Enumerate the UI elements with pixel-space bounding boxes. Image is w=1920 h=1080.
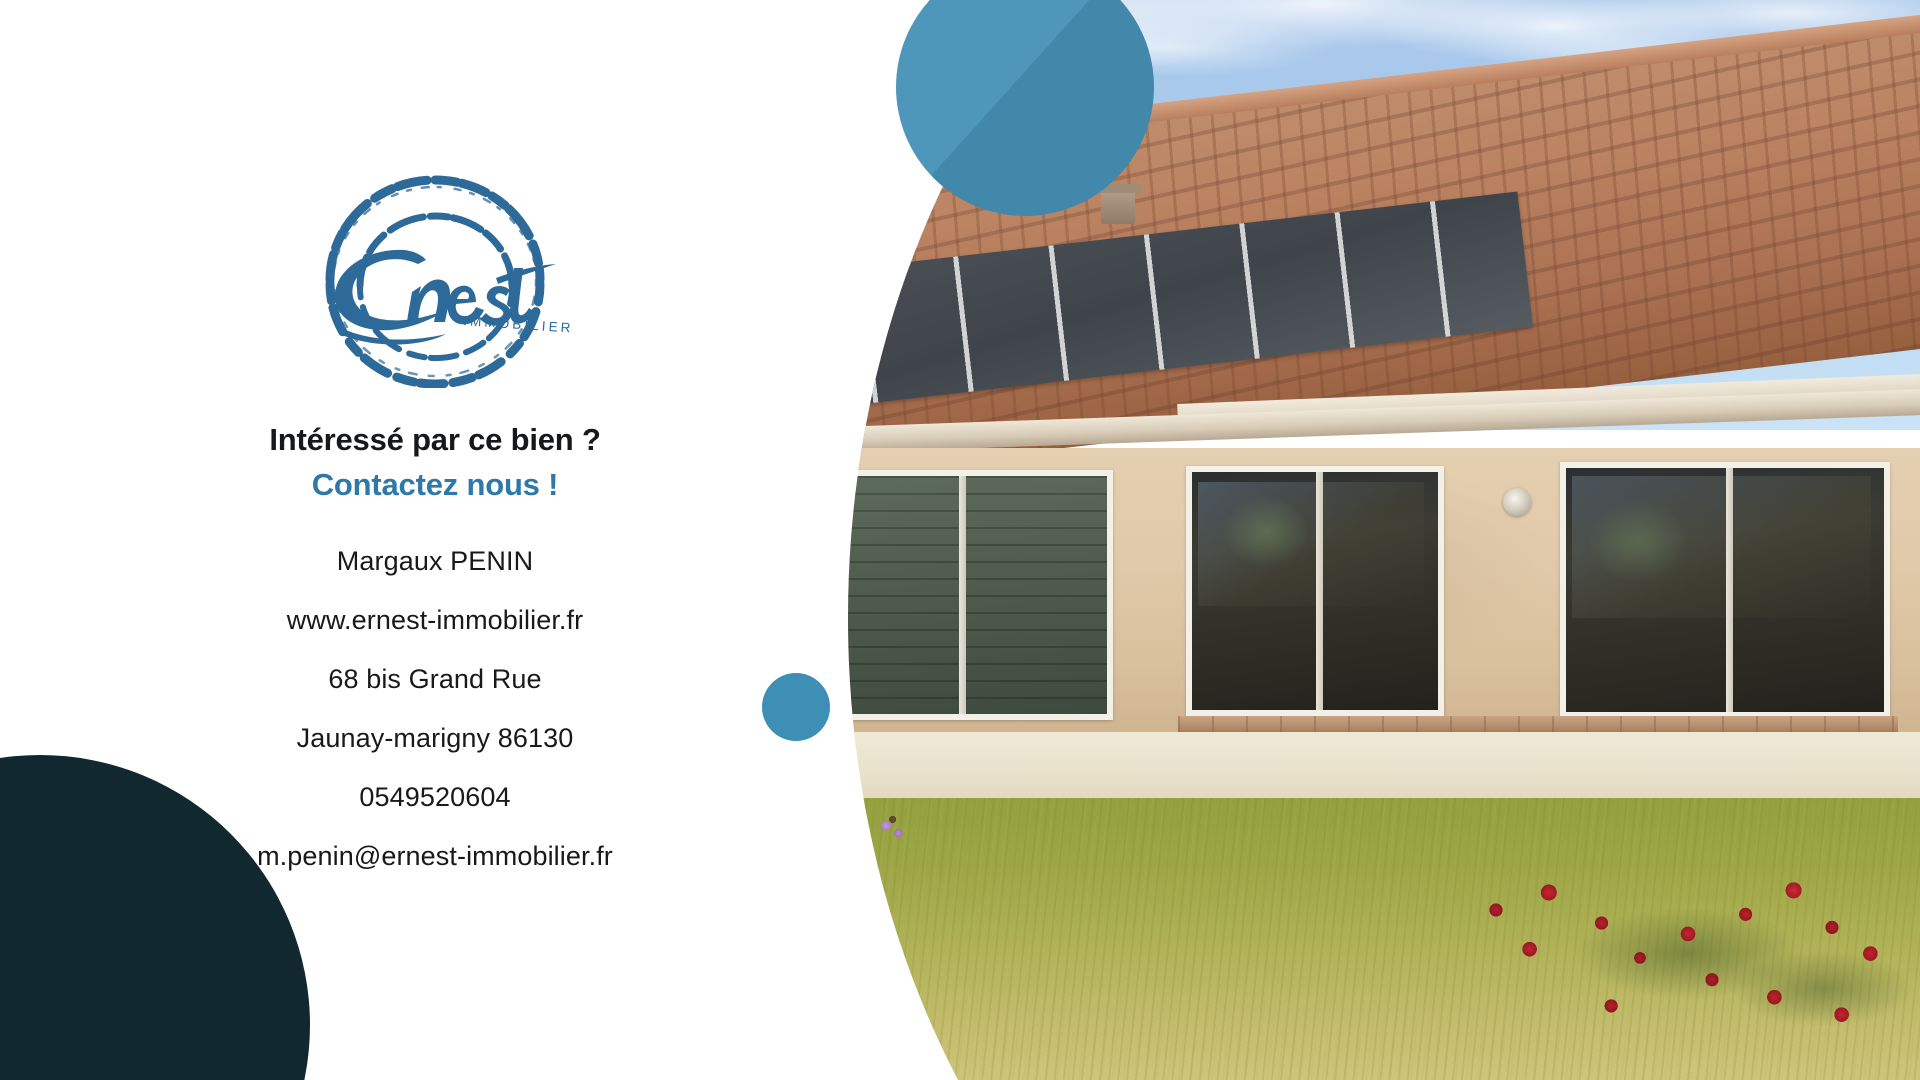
svg-text:IMMOBILIER: IMMOBILIER [463, 313, 570, 336]
purple-flower [876, 812, 912, 846]
city-postcode: Jaunay-marigny 86130 [257, 725, 613, 752]
email-address[interactable]: m.penin@ernest-immobilier.fr [257, 843, 613, 870]
chimney [1101, 188, 1135, 224]
door-mullion [1316, 472, 1323, 710]
red-rose-bed [1448, 862, 1920, 1080]
window-mullion [959, 476, 966, 714]
street-address: 68 bis Grand Rue [257, 666, 613, 693]
brick-sill [1178, 716, 1898, 732]
contact-details: Margaux PENIN www.ernest-immobilier.fr 6… [257, 548, 613, 870]
door-mullion [1726, 468, 1733, 712]
window-left-shutters [848, 470, 1113, 720]
ernest-immobilier-logo: IMMOBILIER [300, 168, 570, 388]
sliding-door-right [1560, 462, 1890, 718]
sliding-door-middle [1186, 466, 1444, 716]
glass-reflection [1198, 482, 1424, 606]
agent-name: Margaux PENIN [257, 548, 613, 575]
phone-number[interactable]: 0549520604 [257, 784, 613, 811]
heading-question: Intéressé par ce bien ? [269, 420, 600, 461]
shutter-slats [848, 476, 1107, 714]
contact-slide: IMMOBILIER Intéressé par ce bien ? Conta… [0, 0, 1920, 1080]
website-link[interactable]: www.ernest-immobilier.fr [257, 607, 613, 634]
heading-cta: Contactez nous ! [269, 465, 600, 506]
wall-lamp [1503, 488, 1531, 516]
glass-reflection [1572, 476, 1871, 618]
contact-panel: IMMOBILIER Intéressé par ce bien ? Conta… [0, 0, 870, 1080]
heading-block: Intéressé par ce bien ? Contactez nous ! [269, 420, 600, 506]
